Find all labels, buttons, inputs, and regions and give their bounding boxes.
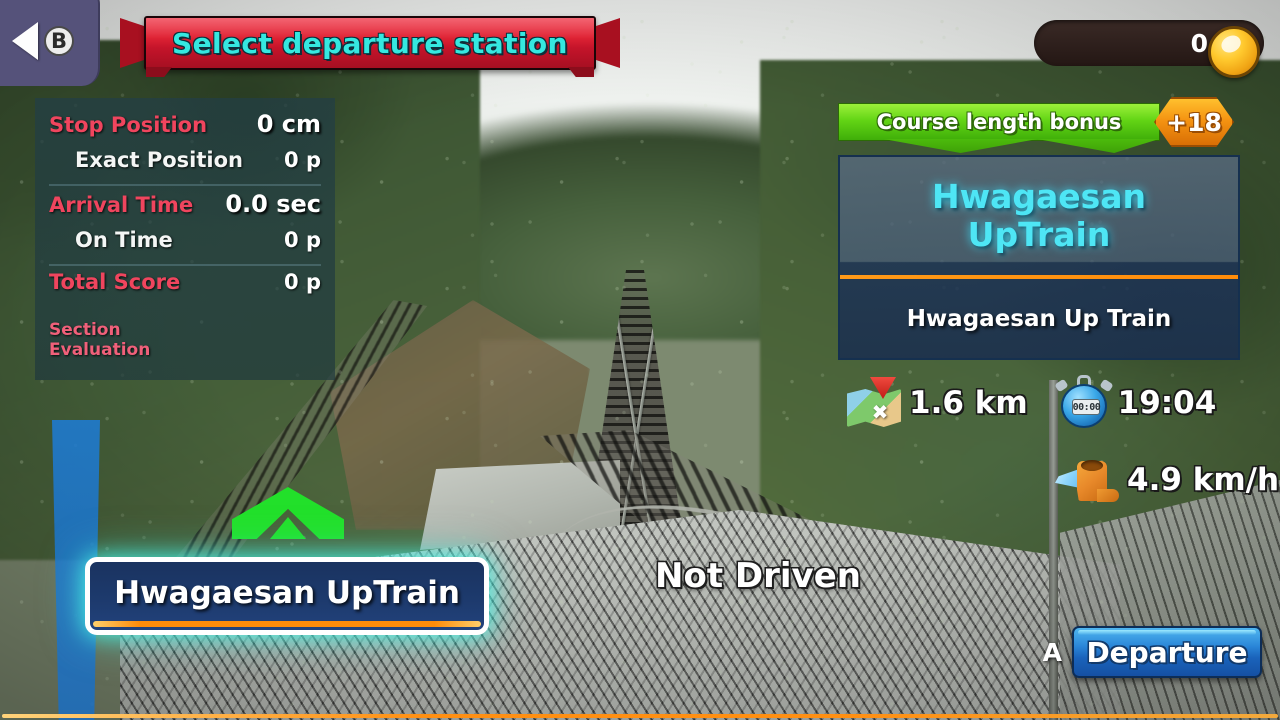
coin-counter: 0	[1034, 20, 1264, 66]
plate-underline	[93, 621, 481, 627]
score-label: On Time	[75, 228, 173, 252]
score-label: Arrival Time	[49, 193, 193, 217]
score-label: Exact Position	[75, 148, 243, 172]
game-screen: B Select departure station 0 Stop Positi…	[0, 0, 1280, 720]
back-button[interactable]: B	[0, 0, 100, 86]
telemetry-row-top: ✖ 1.6 km 00:00 19:04	[845, 375, 1275, 431]
ribbon-tail-left	[120, 18, 144, 68]
bonus-value: +18	[1166, 108, 1222, 137]
telemetry-readouts: ✖ 1.6 km 00:00 19:04 4.9 km/h	[845, 375, 1275, 507]
not-driven-status: Not Driven	[655, 556, 861, 596]
score-row-arrival-time: Arrival Time 0.0 sec	[49, 190, 321, 228]
destination-title-line2: UpTrain	[968, 216, 1111, 254]
score-label: Stop Position	[49, 113, 207, 137]
time-value: 19:04	[1118, 385, 1217, 421]
score-panel: Stop Position 0 cm Exact Position 0 p Ar…	[35, 98, 335, 380]
b-button-badge: B	[44, 26, 74, 56]
selected-plate-body: Hwagaesan UpTrain	[85, 557, 489, 635]
bonus-banner: Course length bonus	[838, 103, 1160, 141]
plate-underline	[2, 714, 1278, 718]
score-value: 0 p	[284, 228, 321, 252]
distance-value: 1.6 km	[909, 385, 1028, 421]
speed-value: 4.9 km/h	[1127, 462, 1279, 498]
stopwatch-icon: 00:00	[1056, 375, 1112, 431]
stopwatch-ear-right	[1099, 379, 1113, 393]
map-x-mark: ✖	[871, 403, 889, 421]
destination-title-line1: Hwagaesan	[932, 178, 1146, 216]
page-title: Select departure station	[172, 27, 568, 60]
destination-card: Hwagaesan UpTrain Hwagaesan Up Train	[838, 155, 1240, 360]
score-row-total-score: Total Score 0 p	[49, 270, 321, 308]
score-value: 0.0 sec	[225, 190, 321, 218]
score-label: Total Score	[49, 270, 180, 294]
divider	[49, 184, 321, 186]
departure-button-label: Departure	[1086, 636, 1247, 669]
score-row-exact-position: Exact Position 0 p	[49, 148, 321, 182]
destination-subtitle: Hwagaesan Up Train	[840, 279, 1238, 359]
departure-button[interactable]: Departure	[1072, 626, 1262, 678]
score-row-on-time: On Time 0 p	[49, 228, 321, 262]
map-pin-icon: ✖	[845, 377, 903, 429]
stopwatch-face: 00:00	[1072, 399, 1100, 415]
coin-icon	[1208, 26, 1260, 78]
stopwatch-body: 00:00	[1061, 384, 1107, 428]
score-value: 0 p	[284, 270, 321, 294]
left-triangle-icon	[12, 22, 38, 60]
up-chevron-icon	[232, 487, 344, 539]
section-evaluation-heading: Section Evaluation	[49, 320, 321, 360]
boot-toe	[1097, 489, 1119, 502]
bonus-label: Course length bonus	[877, 110, 1122, 134]
ribbon-tail-right	[596, 18, 620, 68]
winged-boot-icon	[1057, 453, 1121, 507]
course-length-bonus: Course length bonus +18	[838, 103, 1160, 141]
score-value: 0 cm	[257, 110, 321, 138]
selected-station-label: Hwagaesan UpTrain	[114, 575, 460, 611]
score-value: 0 p	[284, 148, 321, 172]
a-button-hint: A	[1043, 638, 1062, 667]
section-evaluation-line2: Evaluation	[49, 340, 321, 360]
title-ribbon: Select departure station	[120, 14, 620, 72]
boot-opening	[1081, 460, 1103, 471]
ribbon-body: Select departure station	[144, 16, 596, 70]
destination-title: Hwagaesan UpTrain	[840, 157, 1238, 275]
coin-count: 0	[1191, 29, 1208, 58]
station-option-uptrain-selected[interactable]: Hwagaesan UpTrain	[85, 557, 489, 635]
telemetry-row-bottom: 4.9 km/h	[1057, 453, 1275, 507]
departure-control: A Departure	[1043, 626, 1262, 678]
divider	[49, 264, 321, 266]
score-row-stop-position: Stop Position 0 cm	[49, 110, 321, 148]
section-evaluation-line1: Section	[49, 320, 321, 340]
